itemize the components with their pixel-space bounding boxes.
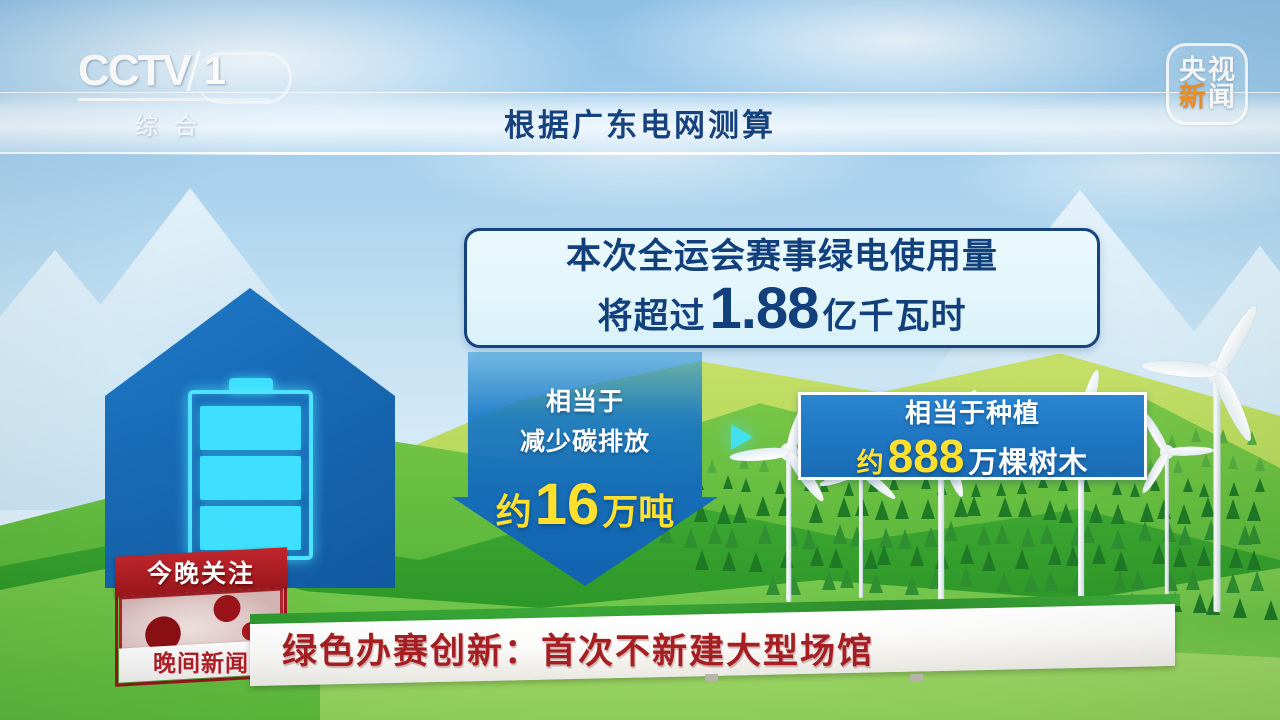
pine-tree (837, 497, 851, 517)
wind-turbine-icon (860, 470, 862, 598)
stat-card-suffix: 亿千瓦时 (822, 299, 966, 334)
pine-tree (1177, 504, 1191, 524)
wind-turbine-icon (1166, 452, 1168, 602)
news-logo-char-yang: 央 (1179, 57, 1206, 84)
pine-tree (1255, 478, 1265, 492)
wind-turbine-icon (1216, 372, 1218, 612)
green-power-stat-card: 本次全运会赛事绿电使用量 将超过 1.88 亿千瓦时 (464, 228, 1100, 348)
pine-tree (707, 459, 717, 473)
stat-card-line2: 将超过 1.88 亿千瓦时 (598, 280, 967, 338)
trees-line1: 相当于种植 (905, 393, 1040, 430)
news-logo-char-xin: 新 (1179, 84, 1206, 111)
pine-tree (1140, 502, 1154, 522)
pine-tree (1226, 499, 1240, 519)
pine-tree (1191, 428, 1201, 442)
trees-value-suffix: 万棵树木 (968, 449, 1088, 478)
pine-tree (1229, 482, 1239, 496)
pine-tree (833, 524, 847, 544)
play-triangle-icon (731, 424, 753, 450)
pine-tree (924, 527, 938, 547)
pine-tree (756, 496, 770, 516)
stat-card-prefix: 将超过 (598, 299, 706, 334)
pine-tree (1111, 504, 1125, 524)
stat-card-value: 1.88 (710, 280, 819, 338)
battery-bar-2 (200, 456, 301, 500)
pine-tree (982, 551, 996, 571)
carbon-line1: 相当于 (546, 382, 624, 418)
pine-tree (1043, 500, 1057, 520)
pine-tree (954, 497, 968, 517)
pine-tree (1229, 548, 1243, 568)
trees-planted-box: 相当于种植 约 888 万棵树木 (798, 392, 1147, 480)
pine-tree (1247, 550, 1261, 570)
pine-tree (1040, 524, 1054, 544)
channel-logo: CCTV 1 综合 (78, 46, 298, 141)
pine-tree (1130, 483, 1140, 497)
pine-tree (1178, 525, 1192, 545)
pine-tree (1199, 483, 1209, 497)
channel-logo-name: CCTV (78, 46, 190, 96)
pine-tree (810, 546, 824, 566)
pine-tree (967, 496, 981, 516)
pine-tree (960, 544, 974, 564)
pine-tree (1048, 545, 1062, 565)
trees-value-prefix: 约 (857, 450, 884, 477)
pine-tree (809, 503, 823, 523)
pine-tree (944, 521, 958, 541)
pine-tree (1059, 503, 1073, 523)
pine-tree (1114, 551, 1128, 571)
pine-tree (971, 483, 981, 497)
pine-tree (877, 545, 891, 565)
cctv-news-logo: 央 视 新 闻 (1166, 43, 1248, 125)
pine-tree (733, 503, 747, 523)
pine-tree (1018, 497, 1032, 517)
pine-tree (1186, 570, 1200, 590)
headline-text: 绿色办赛创新：首次不新建大型场馆 (282, 622, 874, 673)
pine-tree (1111, 529, 1125, 549)
program-badge-top-label: 今晚关注 (147, 554, 255, 590)
pine-tree (1113, 571, 1127, 591)
battery-bar-1 (200, 406, 301, 450)
pine-tree (1233, 598, 1247, 618)
pine-tree (1112, 481, 1122, 495)
headline-foot-left (705, 674, 718, 681)
pine-tree (910, 546, 924, 566)
pine-tree (1173, 547, 1187, 567)
pine-tree (741, 478, 751, 492)
pine-tree (844, 482, 854, 496)
pine-tree (722, 551, 736, 571)
pine-tree (695, 550, 709, 570)
carbon-value-row: 约 16 万吨 (496, 476, 675, 534)
pine-tree (875, 500, 889, 520)
turbine-mast (1214, 372, 1221, 612)
channel-logo-oval (196, 52, 292, 104)
news-logo-char-shi: 视 (1208, 57, 1235, 84)
pine-tree (1021, 527, 1035, 547)
pine-tree (1044, 571, 1058, 591)
battery-bar-3 (200, 506, 301, 550)
news-logo-line2: 新 闻 (1179, 84, 1235, 111)
top-banner-text: 根据广东电网测算 (504, 100, 776, 145)
pine-tree (1255, 457, 1265, 471)
pine-tree (708, 524, 722, 544)
pine-tree (1017, 480, 1027, 494)
pine-tree (905, 575, 919, 595)
pine-tree (996, 482, 1006, 496)
pine-tree (1138, 521, 1152, 541)
pine-tree (869, 573, 883, 593)
pine-tree (1131, 569, 1145, 589)
pine-tree (723, 475, 733, 489)
pine-tree (829, 548, 843, 568)
channel-logo-subtitle: 综合 (78, 107, 270, 141)
pine-tree (864, 549, 878, 569)
pine-tree (822, 570, 836, 590)
turbine-mast (859, 470, 863, 598)
pine-tree (840, 568, 854, 588)
pine-tree (921, 499, 935, 519)
battery-full-icon (188, 378, 313, 560)
wind-turbine-icon (788, 452, 790, 602)
pine-tree (1183, 478, 1193, 492)
pine-tree (1089, 503, 1103, 523)
news-logo-char-wen: 闻 (1208, 84, 1235, 111)
pine-tree (959, 567, 973, 587)
pine-tree (1228, 455, 1238, 469)
pine-tree (995, 524, 1009, 544)
pine-tree (895, 499, 909, 519)
headline-foot-right (910, 674, 923, 681)
pine-tree (717, 504, 731, 524)
pine-tree (749, 552, 763, 572)
trees-value: 888 (888, 433, 965, 479)
turbine-mast (1165, 452, 1169, 602)
pine-tree (766, 575, 780, 595)
broadcast-screen: 根据广东电网测算 CCTV 1 综合 央 视 新 闻 本次全运会赛事绿电使用量 … (0, 0, 1280, 720)
pine-tree (1092, 544, 1106, 564)
pine-tree (1250, 571, 1264, 591)
pine-tree (1193, 593, 1207, 613)
turbine-mast (786, 452, 791, 602)
pine-tree (684, 528, 698, 548)
pine-tree (977, 525, 991, 545)
pine-tree (1173, 459, 1183, 473)
trees-value-row: 约 888 万棵树木 (857, 433, 1089, 479)
carbon-value-prefix: 约 (496, 494, 532, 530)
pine-tree (1247, 524, 1261, 544)
pine-tree (1197, 546, 1211, 566)
pine-tree (1024, 572, 1038, 592)
carbon-value-suffix: 万吨 (602, 494, 674, 530)
pine-tree (758, 524, 772, 544)
pine-tree (998, 497, 1012, 517)
pine-tree (1247, 501, 1261, 521)
pine-tree (1015, 549, 1029, 569)
pine-tree (997, 572, 1011, 592)
program-badge-bottom-label: 晚间新闻 (153, 644, 249, 678)
pine-tree (1226, 573, 1240, 593)
pine-tree (1264, 600, 1278, 620)
news-headline-bar: 绿色办赛创新：首次不新建大型场馆 (250, 604, 1180, 682)
banner-underline (110, 152, 1170, 155)
pine-tree (1201, 453, 1211, 467)
carbon-line2: 减少碳排放 (520, 422, 650, 458)
news-logo-line1: 央 视 (1179, 57, 1235, 84)
pine-tree (725, 528, 739, 548)
stat-card-line1: 本次全运会赛事绿电使用量 (566, 238, 998, 276)
pine-tree (775, 480, 785, 494)
carbon-value: 16 (535, 476, 600, 534)
